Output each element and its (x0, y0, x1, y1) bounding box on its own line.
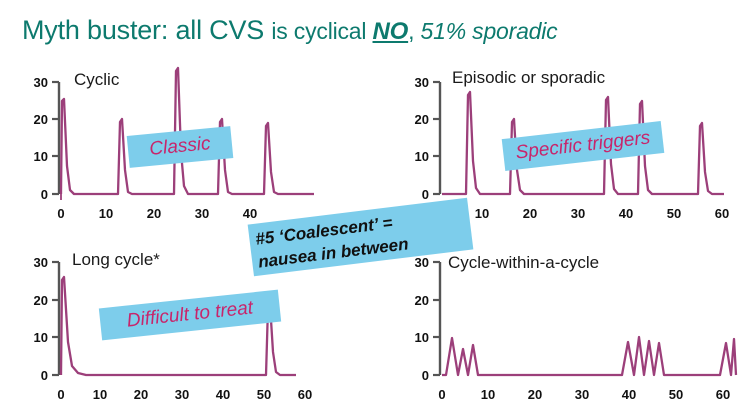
x-label-0: 0 (57, 206, 64, 221)
y-label-0: 0 (41, 368, 48, 383)
title-sporadic: 51% sporadic (421, 18, 558, 44)
x-label-30: 30 (195, 206, 209, 221)
y-label-30: 30 (415, 75, 429, 90)
x-label-0: 0 (438, 387, 445, 402)
x-label-10: 10 (93, 387, 107, 402)
chart-title-cycle-within-a-cycle: Cycle-within-a-cycle (448, 253, 599, 273)
x-label-0: 0 (57, 387, 64, 402)
x-label-20: 20 (523, 206, 537, 221)
x-label-60: 60 (716, 387, 730, 402)
chart-title-episodic: Episodic or sporadic (452, 68, 605, 88)
x-label-40: 40 (622, 387, 636, 402)
y-label-0: 0 (422, 187, 429, 202)
y-label-10: 10 (415, 149, 429, 164)
y-label-30: 30 (34, 75, 48, 90)
x-label-40: 40 (243, 206, 257, 221)
title-part3: , (408, 18, 420, 44)
y-label-10: 10 (34, 330, 48, 345)
x-label-50: 50 (667, 206, 681, 221)
y-label-10: 10 (34, 149, 48, 164)
y-label-20: 20 (34, 293, 48, 308)
chart-title-cyclic: Cyclic (74, 70, 119, 90)
x-label-50: 50 (669, 387, 683, 402)
title-emphasis-no: NO (373, 18, 409, 45)
cycle-within-a-cycle-trace (442, 337, 736, 375)
x-label-30: 30 (575, 387, 589, 402)
x-label-20: 20 (528, 387, 542, 402)
x-label-10: 10 (99, 206, 113, 221)
title-part1: Myth buster: all CVS (22, 15, 271, 45)
x-label-50: 50 (257, 387, 271, 402)
y-label-20: 20 (415, 293, 429, 308)
title-part2: is cyclical (271, 18, 372, 44)
x-label-30: 30 (175, 387, 189, 402)
x-label-60: 60 (298, 387, 312, 402)
x-label-10: 10 (475, 206, 489, 221)
x-label-40: 40 (216, 387, 230, 402)
x-label-40: 40 (619, 206, 633, 221)
x-label-30: 30 (571, 206, 585, 221)
page-title: Myth buster: all CVS is cyclical NO, 51%… (22, 8, 734, 52)
y-label-0: 0 (422, 368, 429, 383)
y-label-0: 0 (41, 187, 48, 202)
chart-title-long-cycle: Long cycle* (72, 250, 160, 270)
y-label-20: 20 (415, 112, 429, 127)
x-label-10: 10 (481, 387, 495, 402)
slide-canvas: Myth buster: all CVS is cyclical NO, 51%… (0, 0, 741, 419)
y-label-30: 30 (34, 255, 48, 270)
y-label-10: 10 (415, 330, 429, 345)
x-label-20: 20 (134, 387, 148, 402)
x-label-60: 60 (715, 206, 729, 221)
x-label-20: 20 (147, 206, 161, 221)
y-label-30: 30 (415, 255, 429, 270)
y-label-20: 20 (34, 112, 48, 127)
